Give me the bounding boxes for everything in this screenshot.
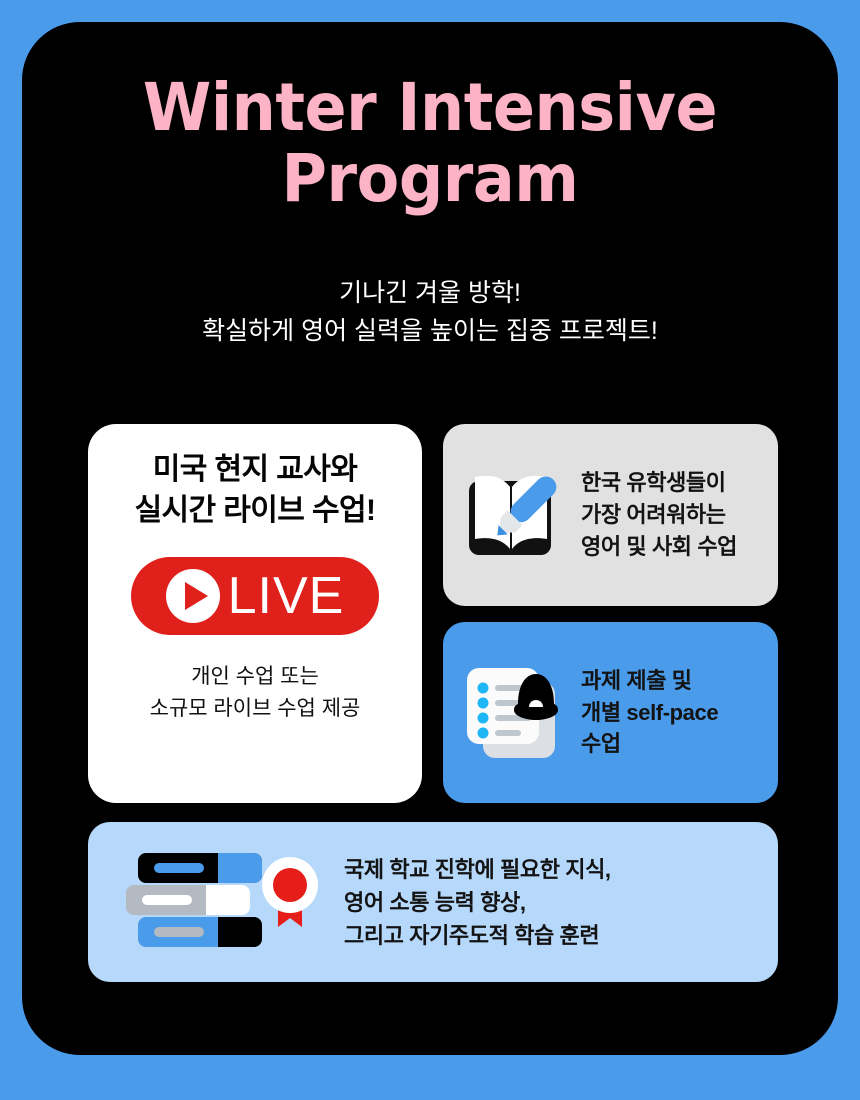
- subtitle: 기나긴 겨울 방학! 확실하게 영어 실력을 높이는 집중 프로젝트!: [0, 274, 860, 350]
- title-line-1: Winter Intensive: [26, 72, 834, 143]
- card-live-subtext: 개인 수업 또는 소규모 라이브 수업 제공: [150, 661, 361, 724]
- book-pencil-icon: [461, 465, 567, 566]
- card-live-heading-line-2: 실시간 라이브 수업!: [135, 491, 376, 532]
- card-goals-line-3: 그리고 자기주도적 학습 훈련: [344, 919, 611, 952]
- card-live-subtext-line-1: 개인 수업 또는: [150, 661, 361, 693]
- page-title: Winter Intensive Program: [26, 72, 834, 215]
- card-assignments-text: 과제 제출 및 개별 self-pace 수업: [581, 665, 718, 761]
- card-goals-line-1: 국제 학교 진학에 필요한 지식,: [344, 853, 611, 886]
- live-badge[interactable]: LIVE: [131, 557, 379, 635]
- card-assignments-line-1: 과제 제출 및: [581, 665, 718, 697]
- live-badge-label: LIVE: [228, 570, 345, 622]
- card-live-class[interactable]: 미국 현지 교사와 실시간 라이브 수업! LIVE 개인 수업 또는 소규모 …: [88, 424, 422, 803]
- card-difficult-subjects[interactable]: 한국 유학생들이 가장 어려워하는 영어 및 사회 수업: [443, 424, 778, 606]
- card-assignments[interactable]: 과제 제출 및 개별 self-pace 수업: [443, 622, 778, 803]
- title-line-2: Program: [26, 143, 834, 214]
- card-difficult-subjects-text: 한국 유학생들이 가장 어려워하는 영어 및 사회 수업: [581, 467, 737, 563]
- checklist-bell-icon: [457, 658, 569, 767]
- card-goals[interactable]: 국제 학교 진학에 필요한 지식, 영어 소통 능력 향상, 그리고 자기주도적…: [88, 822, 778, 982]
- card-assignments-line-3: 수업: [581, 728, 718, 760]
- card-goals-line-2: 영어 소통 능력 향상,: [344, 886, 611, 919]
- subtitle-line-2: 확실하게 영어 실력을 높이는 집중 프로젝트!: [0, 312, 860, 350]
- play-icon: [166, 569, 220, 623]
- card-difficult-subjects-line-3: 영어 및 사회 수업: [581, 531, 737, 563]
- card-live-heading-line-1: 미국 현지 교사와: [135, 450, 376, 491]
- card-live-subtext-line-2: 소규모 라이브 수업 제공: [150, 693, 361, 725]
- card-assignments-line-2: 개별 self-pace: [581, 697, 718, 729]
- subtitle-line-1: 기나긴 겨울 방학!: [0, 274, 860, 312]
- card-difficult-subjects-line-1: 한국 유학생들이: [581, 467, 737, 499]
- books-medal-icon: [122, 847, 318, 958]
- card-live-heading: 미국 현지 교사와 실시간 라이브 수업!: [135, 450, 376, 531]
- card-difficult-subjects-line-2: 가장 어려워하는: [581, 499, 737, 531]
- card-goals-text: 국제 학교 진학에 필요한 지식, 영어 소통 능력 향상, 그리고 자기주도적…: [344, 853, 611, 952]
